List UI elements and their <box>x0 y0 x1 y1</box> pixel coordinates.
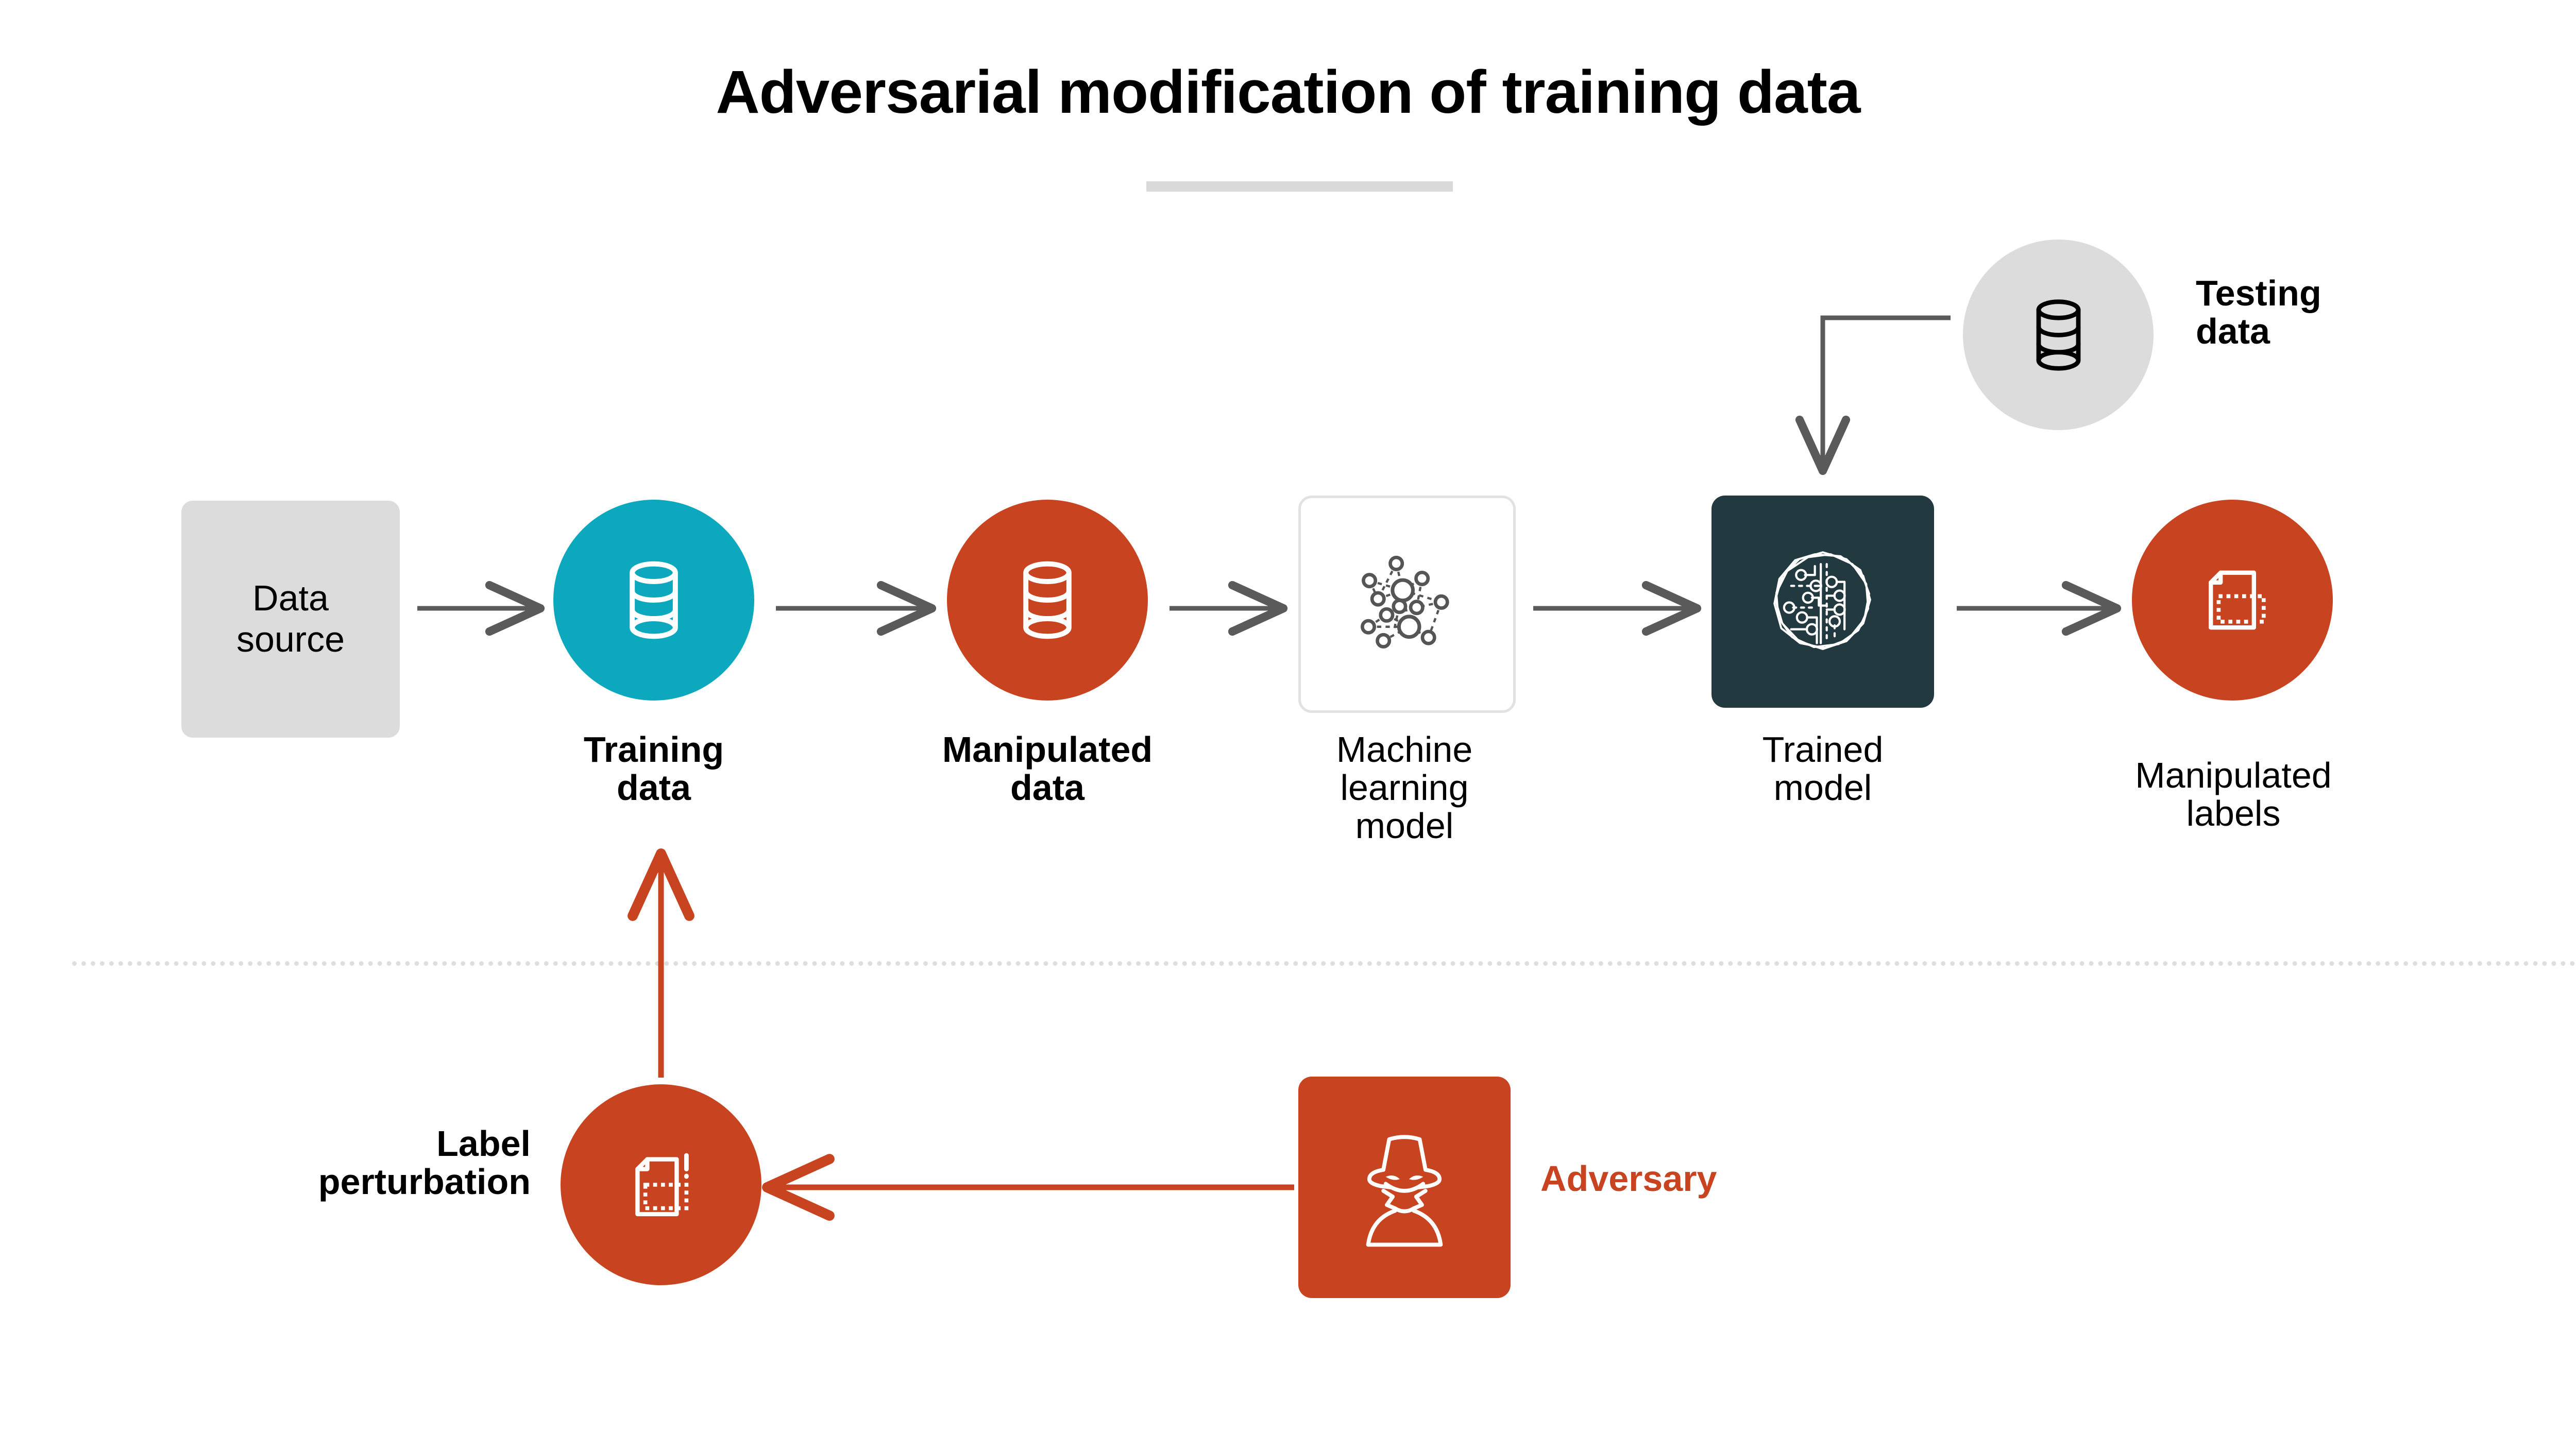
document-dashed-icon <box>2183 551 2281 649</box>
node-label-perturbation[interactable] <box>561 1084 761 1285</box>
node-manipulated-data[interactable] <box>947 500 1148 701</box>
title-underline-rule <box>1146 181 1453 192</box>
node-training-data[interactable] <box>553 500 754 701</box>
document-alert-icon <box>612 1136 710 1234</box>
spy-eyes <box>1386 1175 1423 1180</box>
spy-icon <box>1345 1123 1464 1252</box>
node-training-data-label: Training data <box>522 730 785 807</box>
circuit-brain-icon <box>1764 542 1882 661</box>
node-testing-data-label: Testing data <box>2196 274 2438 350</box>
neural-network-icon <box>1343 540 1471 669</box>
page-title: Adversarial modification of training dat… <box>0 59 2576 126</box>
node-trained-model[interactable] <box>1711 496 1934 708</box>
node-adversary-label: Adversary <box>1540 1158 1860 1199</box>
node-label-perturbation-label: Label perturbation <box>191 1124 531 1201</box>
node-ml-model[interactable] <box>1298 496 1516 713</box>
section-divider <box>72 961 2576 966</box>
node-testing-data[interactable] <box>1963 240 2154 430</box>
diagram-canvas: Adversarial modification of training dat… <box>0 0 2576 1449</box>
node-data-source[interactable]: Data source <box>181 501 400 738</box>
node-data-source-label: Data source <box>236 578 345 660</box>
database-icon <box>998 551 1096 649</box>
database-icon <box>605 551 703 649</box>
arrow-testing-data-to-trained-model <box>1823 318 1951 466</box>
node-manipulated-labels[interactable] <box>2132 500 2333 701</box>
node-trained-model-label: Trained model <box>1699 730 1946 807</box>
node-manipulated-data-label: Manipulated data <box>872 730 1223 807</box>
node-adversary[interactable] <box>1298 1077 1511 1298</box>
database-icon <box>2013 290 2104 380</box>
node-manipulated-labels-label: Manipulated labels <box>2074 756 2393 832</box>
node-ml-model-label: Machine learning model <box>1265 730 1544 845</box>
